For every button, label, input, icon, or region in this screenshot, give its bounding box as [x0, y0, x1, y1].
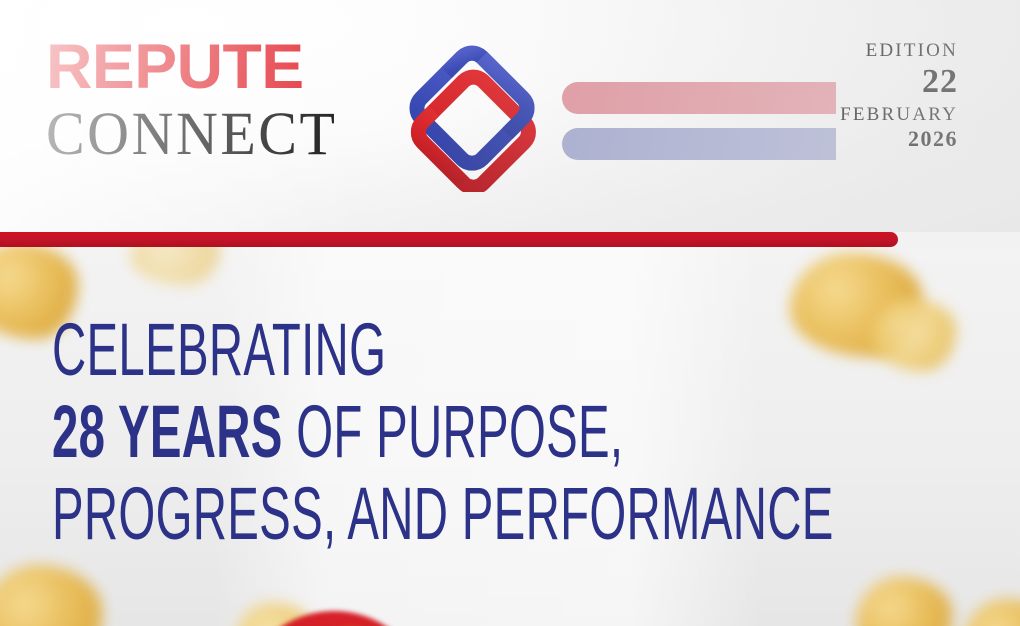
hero-section: CELEBRATING 28 YEARS OF PURPOSE, PROGRES… [0, 247, 1020, 626]
headline-line-1: CELEBRATING [52, 309, 615, 391]
edition-month: FEBRUARY [788, 103, 958, 127]
gold-confetti-icon [856, 577, 952, 626]
edition-block: EDITION 22 FEBRUARY 2026 [788, 40, 958, 151]
wordmark-repute: REPUTE [46, 36, 403, 98]
headline-line-1-text: CELEBRATING [52, 308, 386, 391]
hero-headline: CELEBRATING 28 YEARS OF PURPOSE, PROGRES… [52, 309, 615, 555]
brand-wordmark: REPUTE CONNECT [46, 36, 396, 164]
edition-label: EDITION [788, 40, 958, 62]
wordmark-connect: CONNECT [46, 100, 396, 168]
gold-confetti-icon [0, 565, 102, 626]
masthead: REPUTE CONNECT [0, 0, 1020, 232]
edition-year: 2026 [788, 127, 958, 151]
newsletter-header-page: REPUTE CONNECT [0, 0, 1020, 626]
headline-line-3-text: PROGRESS, AND PERFORMANCE [52, 472, 834, 555]
headline-years-emphasis: 28 YEARS [52, 390, 283, 473]
edition-number: 22 [788, 63, 958, 101]
gold-confetti-icon [130, 247, 220, 285]
gold-confetti-icon [962, 599, 1020, 626]
headline-line-2-text: OF PURPOSE, [283, 390, 624, 473]
gold-confetti-icon [872, 299, 956, 371]
red-divider [0, 232, 898, 247]
headline-line-2: 28 YEARS OF PURPOSE, [52, 391, 615, 473]
interlocking-squares-logo-icon [396, 44, 548, 192]
headline-line-3: PROGRESS, AND PERFORMANCE [52, 473, 615, 555]
